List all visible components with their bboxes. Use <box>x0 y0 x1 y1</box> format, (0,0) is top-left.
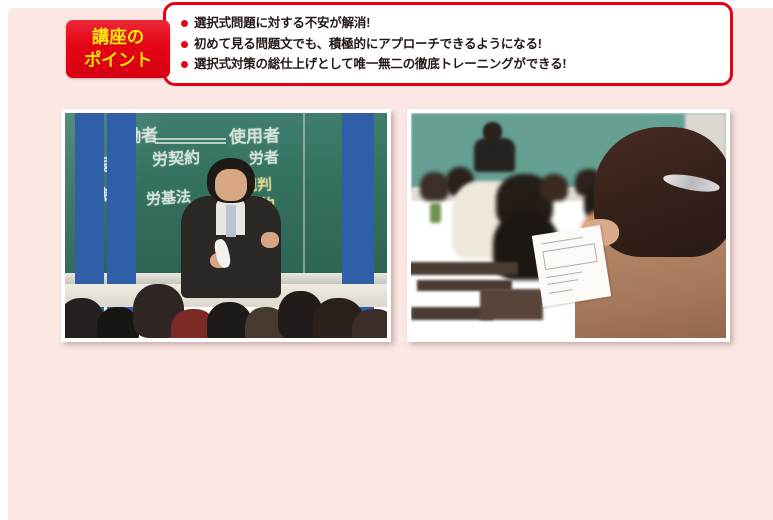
chalk-rule <box>155 138 226 140</box>
chalk-note: 労者 <box>248 146 279 169</box>
course-points-list: 選択式問題に対する不安が解消! 初めて見る問題文でも、積極的にアプローチできるよ… <box>180 13 720 75</box>
instructor-face <box>215 169 247 201</box>
page-canvas: 選択式問題に対する不安が解消! 初めて見る問題文でも、積極的にアプローチできるよ… <box>8 8 773 520</box>
badge-label: 講座の ポイント <box>66 26 170 72</box>
bullet-dot-icon <box>181 20 188 27</box>
badge-label-line1: 講座の <box>66 26 170 49</box>
handout-paper <box>532 225 612 307</box>
course-point-text: 初めて見る問題文でも、積極的にアプローチできるようになる! <box>194 37 542 51</box>
instructor-hand-right <box>261 232 279 248</box>
student-head <box>540 174 568 201</box>
list-item: 初めて見る問題文でも、積極的にアプローチできるようになる! <box>180 34 720 55</box>
list-item: 選択式対策の総仕上げとして唯一無二の徹底トレーニングができる! <box>180 54 720 75</box>
instructor-body-blurred <box>474 138 515 172</box>
course-points-banner: 選択式問題に対する不安が解消! 初めて見る問題文でも、積極的にアプローチできるよ… <box>163 2 733 86</box>
lecture-photo-frame: 労働者 使用者 弱者 労契約 労者 制度 労基法 規判 判約 選 <box>61 109 391 342</box>
bullet-dot-icon <box>181 61 188 68</box>
list-item: 選択式問題に対する不安が解消! <box>180 13 720 34</box>
bullet-dot-icon <box>181 41 188 48</box>
course-point-text: 選択式対策の総仕上げとして唯一無二の徹底トレーニングができる! <box>194 57 566 71</box>
lecture-photo: 労働者 使用者 弱者 労契約 労者 制度 労基法 規判 判約 選 <box>65 113 387 338</box>
bottle <box>430 203 441 223</box>
chalkboard-seam <box>303 113 305 275</box>
students-photo-frame <box>407 109 730 342</box>
student-head <box>420 172 448 201</box>
instructor-head-blurred <box>483 122 502 142</box>
chalk-note: 使用者 <box>229 121 281 148</box>
chalk-note: 労基法 <box>145 186 191 210</box>
paper-line <box>547 272 583 279</box>
paper-line <box>549 289 572 294</box>
chalk-note: 労契約 <box>151 143 200 169</box>
chair <box>480 289 543 321</box>
paper-table <box>543 243 598 270</box>
paper-line <box>548 280 578 286</box>
course-points-badge: 講座の ポイント <box>66 20 170 78</box>
students-photo <box>411 113 726 338</box>
course-point-text: 選択式問題に対する不安が解消! <box>194 16 370 30</box>
page-root: 選択式問題に対する不安が解消! 初めて見る問題文でも、積極的にアプローチできるよ… <box>0 0 773 520</box>
desk <box>411 262 518 276</box>
instructor-tie <box>226 205 236 237</box>
badge-label-line2: ポイント <box>66 49 170 72</box>
paper-line <box>541 237 582 244</box>
